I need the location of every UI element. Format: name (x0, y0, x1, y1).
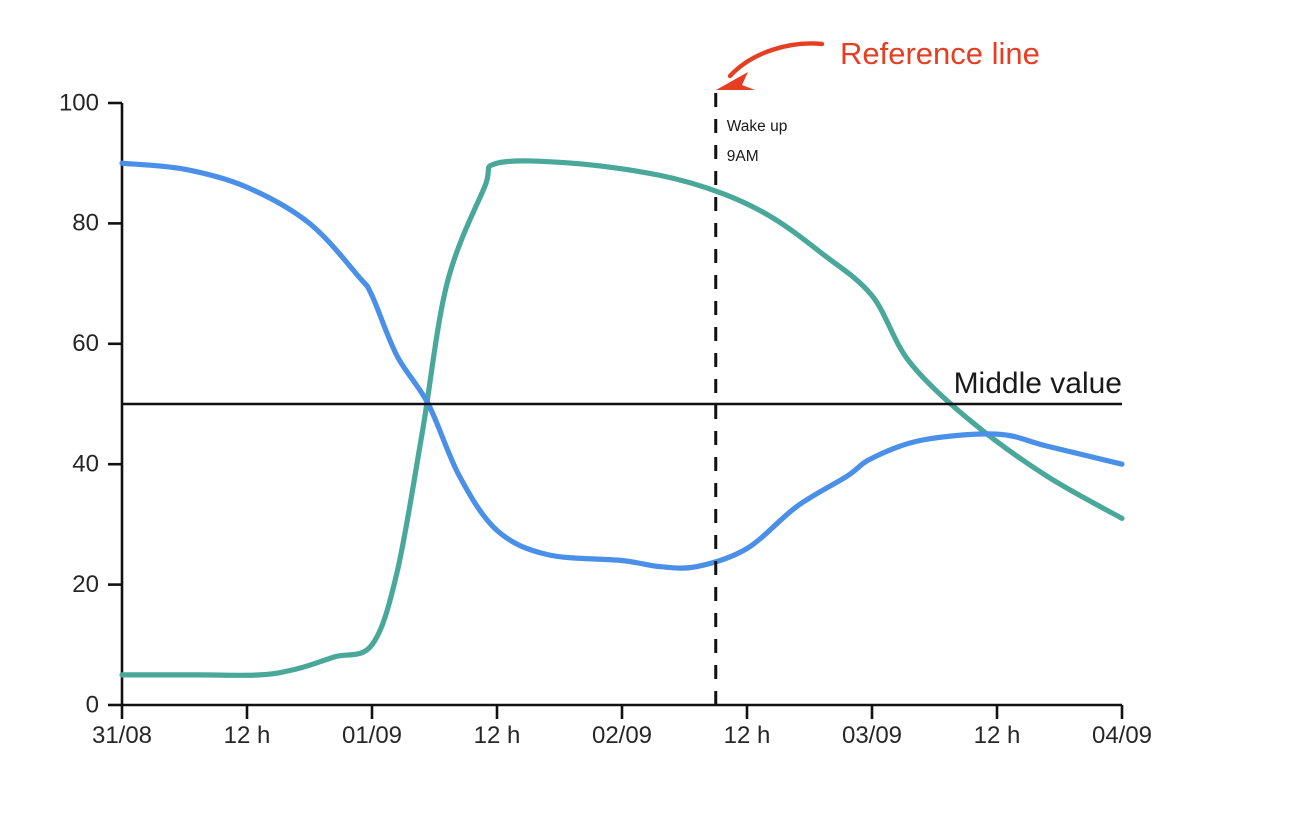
middle-value-label: Middle value (954, 367, 1122, 400)
line-chart: 100 80 60 40 20 0 (0, 0, 1290, 822)
x-axis-group: 31/08 12 h 01/09 12 h 02/09 12 h (92, 705, 1152, 749)
x-tick-5: 12 h (724, 705, 771, 749)
teal-series-line (122, 161, 1122, 675)
y-tick-0: 0 (86, 691, 122, 718)
x-tick-2: 01/09 (342, 705, 402, 749)
chart-container: 100 80 60 40 20 0 (0, 0, 1290, 822)
y-tick-80: 80 (72, 210, 122, 237)
middle-value-reference: Middle value (122, 367, 1122, 404)
x-tick-label: 12 h (224, 722, 271, 749)
x-tick-label: 03/09 (842, 722, 902, 749)
wake-up-label-line2: 9AM (727, 148, 759, 165)
y-tick-label: 20 (72, 571, 99, 598)
y-tick-40: 40 (72, 451, 122, 478)
x-tick-1: 12 h (224, 705, 271, 749)
y-tick-20: 20 (72, 571, 122, 598)
x-tick-label: 31/08 (92, 722, 152, 749)
blue-series-line (122, 163, 1122, 568)
x-tick-label: 02/09 (592, 722, 652, 749)
y-tick-label: 80 (72, 210, 99, 237)
x-tick-6: 03/09 (842, 705, 902, 749)
x-tick-4: 02/09 (592, 705, 652, 749)
y-tick-label: 60 (72, 330, 99, 357)
y-tick-60: 60 (72, 330, 122, 357)
y-tick-label: 100 (59, 89, 99, 116)
arrow-head-icon (716, 72, 755, 90)
annotation-text: Reference line (840, 36, 1040, 71)
y-tick-label: 40 (72, 451, 99, 478)
wake-up-reference-line: Wake up 9AM (716, 93, 788, 705)
x-tick-label: 04/09 (1092, 722, 1152, 749)
x-tick-label: 12 h (474, 722, 521, 749)
curved-arrow-icon (730, 44, 822, 76)
y-axis-group: 100 80 60 40 20 0 (59, 89, 122, 718)
x-tick-7: 12 h (974, 705, 1021, 749)
y-tick-100: 100 (59, 89, 122, 116)
x-tick-label: 12 h (724, 722, 771, 749)
wake-up-label-line1: Wake up (727, 118, 788, 135)
y-tick-label: 0 (86, 691, 99, 718)
x-tick-0: 31/08 (92, 705, 152, 749)
reference-line-annotation: Reference line (716, 36, 1040, 90)
x-tick-label: 12 h (974, 722, 1021, 749)
x-tick-8: 04/09 (1092, 705, 1152, 749)
x-tick-label: 01/09 (342, 722, 402, 749)
x-tick-3: 12 h (474, 705, 521, 749)
